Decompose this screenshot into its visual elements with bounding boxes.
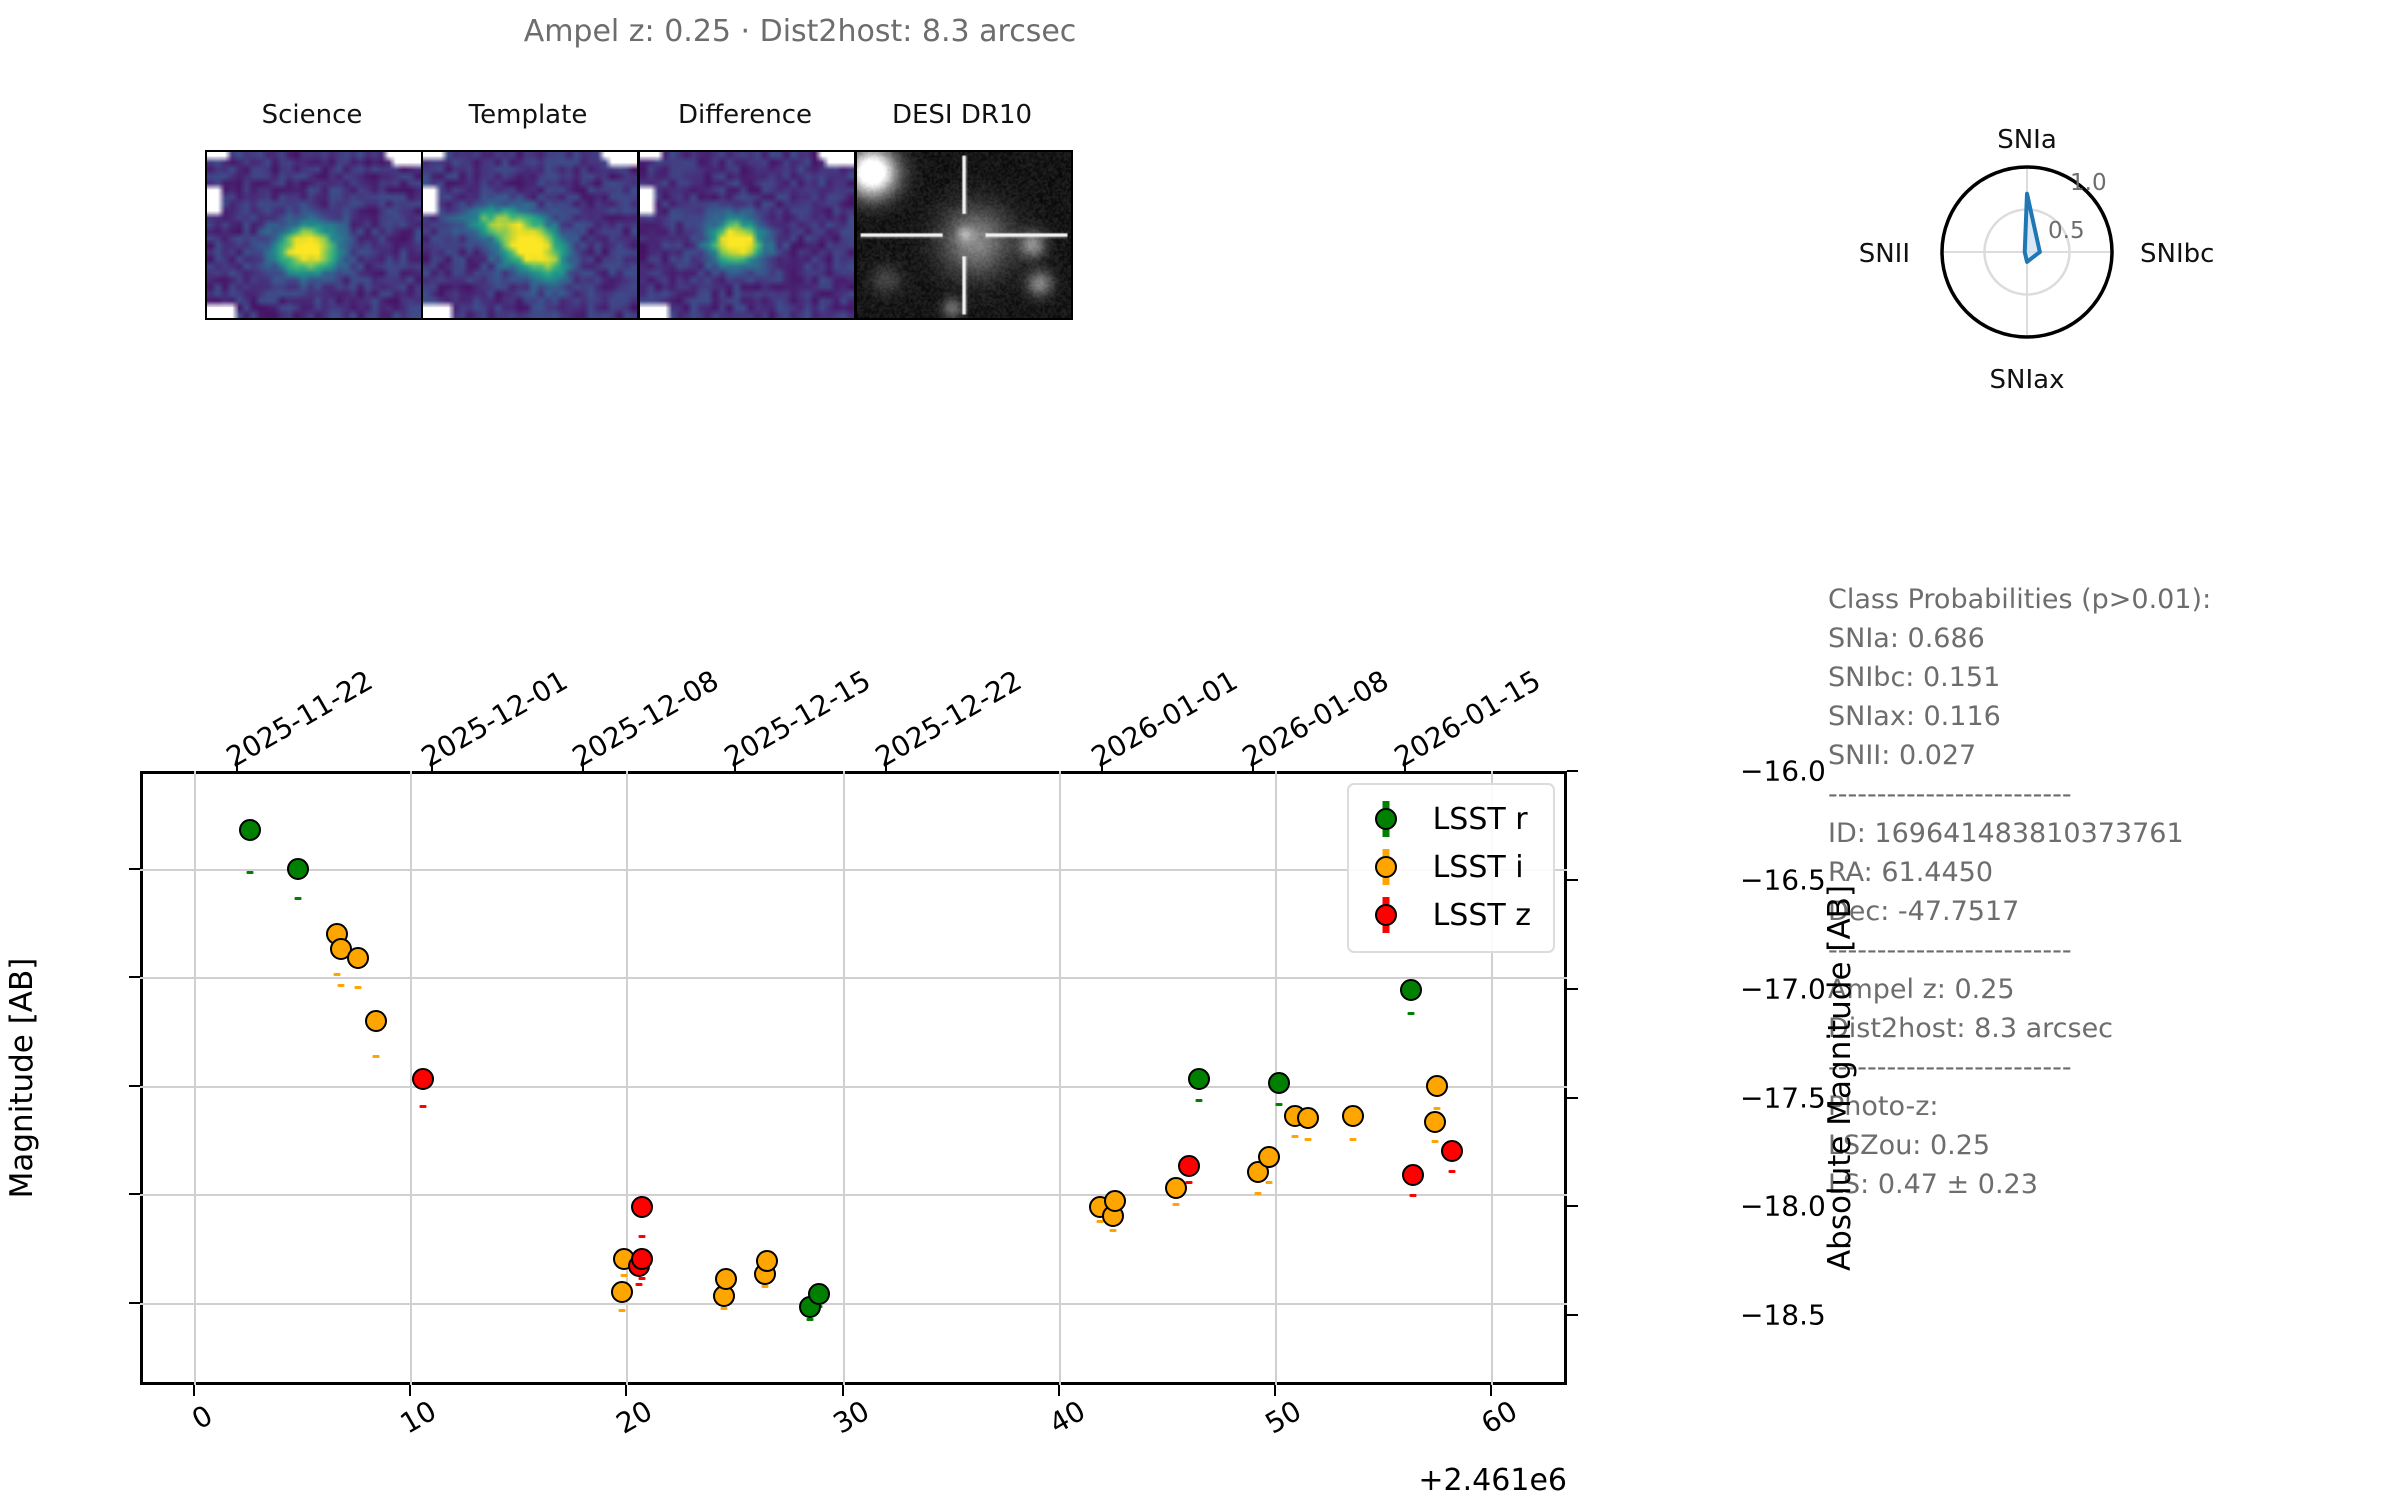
info-line-2: SNIbc: 0.151 <box>1828 658 2368 697</box>
x-tick-label-bottom-5: 50 <box>1260 1394 1307 1440</box>
y-tickmark-left <box>129 1193 140 1195</box>
date-tick-label-4: 2025-12-22 <box>870 664 1027 774</box>
info-line-0: Class Probabilities (p>0.01): <box>1828 580 2368 619</box>
y-tickmark-left <box>129 976 140 978</box>
cutout-image-desi-dr10[interactable] <box>855 150 1073 320</box>
data-point[interactable] <box>1188 1068 1210 1090</box>
info-line-11: Dist2host: 8.3 arcsec <box>1828 1009 2368 1048</box>
light-curve-plot: 22.022.523.023.524.0−18.5−18.0−17.5−17.0… <box>140 771 1567 1385</box>
data-point[interactable] <box>1424 1111 1446 1133</box>
data-point[interactable] <box>1165 1177 1187 1199</box>
legend-marker-lsst-r <box>1365 795 1411 843</box>
legend-marker-lsst-z <box>1365 891 1411 939</box>
legend-entry-lsst-i[interactable]: LSST i <box>1365 843 1531 891</box>
data-point[interactable] <box>1268 1072 1290 1094</box>
data-point[interactable] <box>1400 979 1422 1001</box>
date-tick-label-2: 2025-12-08 <box>567 664 724 774</box>
data-point[interactable] <box>412 1068 434 1090</box>
error-bar <box>720 1307 727 1310</box>
data-point[interactable] <box>808 1283 830 1305</box>
radar-axis-label-snii: SNII <box>1750 239 1910 269</box>
data-point[interactable] <box>1426 1075 1448 1097</box>
date-tick-label-5: 2026-01-01 <box>1086 664 1243 774</box>
data-point[interactable] <box>1258 1146 1280 1168</box>
data-point[interactable] <box>1178 1155 1200 1177</box>
x-tickmark-bottom <box>842 1385 844 1396</box>
error-bar <box>1449 1170 1456 1173</box>
cutout-title-science: Science <box>202 100 422 130</box>
date-tick-label-1: 2025-12-01 <box>416 664 573 774</box>
legend-label: LSST r <box>1433 802 1528 837</box>
error-bar <box>372 1055 379 1058</box>
x-axis-offset-label: +2.461e6 <box>1418 1463 1567 1498</box>
legend-marker-lsst-i <box>1365 843 1411 891</box>
error-bar <box>619 1309 626 1312</box>
radar-axis-label-snibc: SNIbc <box>2140 239 2300 269</box>
y-tickmark-left <box>129 1302 140 1304</box>
gridline-horizontal <box>140 1303 1567 1305</box>
data-point[interactable] <box>756 1250 778 1272</box>
data-point[interactable] <box>715 1268 737 1290</box>
x-tickmark-bottom <box>1274 1385 1276 1396</box>
info-line-3: SNIax: 0.116 <box>1828 697 2368 736</box>
gridline-horizontal <box>140 1086 1567 1088</box>
cutout-title-template: Template <box>418 100 638 130</box>
error-bar <box>638 1277 645 1280</box>
x-tickmark-bottom <box>1490 1385 1492 1396</box>
data-point[interactable] <box>611 1281 633 1303</box>
x-tick-label-bottom-2: 20 <box>611 1394 658 1440</box>
y-axis-label-right: Absolute Magnitude [AB] <box>1822 885 1858 1271</box>
legend-label: LSST z <box>1433 898 1531 933</box>
data-point[interactable] <box>365 1010 387 1032</box>
error-bar <box>761 1285 768 1288</box>
cutout-image-difference[interactable] <box>638 150 856 320</box>
y-tickmark-right <box>1567 879 1578 881</box>
y-tickmark-right <box>1567 1097 1578 1099</box>
figure-suptitle: Ampel z: 0.25 · Dist2host: 8.3 arcsec <box>0 14 1600 49</box>
gridline-horizontal <box>140 1194 1567 1196</box>
error-bar <box>638 1235 645 1238</box>
error-bar <box>1410 1194 1417 1197</box>
cutout-image-template[interactable] <box>421 150 639 320</box>
x-tick-label-bottom-4: 40 <box>1043 1394 1090 1440</box>
error-bar <box>1408 1012 1415 1015</box>
data-point[interactable] <box>1441 1140 1463 1162</box>
error-bar <box>1109 1229 1116 1232</box>
error-bar <box>1432 1140 1439 1143</box>
info-line-14: LSZou: 0.25 <box>1828 1126 2368 1165</box>
error-bar <box>355 986 362 989</box>
error-bar <box>294 897 301 900</box>
error-bar <box>636 1283 643 1286</box>
class-probability-radar-chart: SNIaSNIbcSNIaxSNII0.51.0 <box>1880 95 2220 360</box>
x-tick-label-bottom-3: 30 <box>827 1394 874 1440</box>
y-axis-label-left: Magnitude [AB] <box>4 958 40 1199</box>
legend-entry-lsst-z[interactable]: LSST z <box>1365 891 1531 939</box>
figure-root: Ampel z: 0.25 · Dist2host: 8.3 arcsec Sc… <box>0 0 2400 1500</box>
data-point[interactable] <box>287 858 309 880</box>
x-tickmark-bottom <box>1058 1385 1060 1396</box>
error-bar <box>1349 1138 1356 1141</box>
data-point[interactable] <box>1402 1164 1424 1186</box>
x-tick-label-bottom-6: 60 <box>1476 1394 1523 1440</box>
cutout-title-difference: Difference <box>635 100 855 130</box>
radar-axis-label-snia: SNIa <box>1927 125 2127 155</box>
y-tickmark-right <box>1567 1314 1578 1316</box>
x-tick-label-bottom-1: 10 <box>395 1394 442 1440</box>
error-bar <box>247 871 254 874</box>
error-bar <box>1172 1203 1179 1206</box>
radar-axis-label-sniax: SNIax <box>1927 365 2127 395</box>
gridline-vertical <box>843 771 845 1385</box>
info-line-6: ID: 169641483810373761 <box>1828 814 2368 853</box>
radar-r-tick-0-5: 0.5 <box>2048 218 2085 244</box>
error-bar <box>1196 1099 1203 1102</box>
data-point[interactable] <box>239 819 261 841</box>
x-tick-label-bottom-0: 0 <box>186 1399 218 1436</box>
gridline-vertical <box>1059 771 1061 1385</box>
legend-dot <box>1375 808 1397 830</box>
y-tickmark-left <box>129 1085 140 1087</box>
legend-label: LSST i <box>1433 850 1524 885</box>
gridline-horizontal <box>140 977 1567 979</box>
y-tick-label-right-0: −18.5 <box>1740 1299 1940 1332</box>
data-point[interactable] <box>631 1248 653 1270</box>
error-bar <box>1265 1181 1272 1184</box>
cutout-image-science[interactable] <box>205 150 423 320</box>
error-bar <box>338 984 345 987</box>
legend-entry-lsst-r[interactable]: LSST r <box>1365 795 1531 843</box>
info-line-1: SNIa: 0.686 <box>1828 619 2368 658</box>
error-bar <box>1276 1103 1283 1106</box>
y-tickmark-left <box>129 868 140 870</box>
x-tickmark-bottom <box>193 1385 195 1396</box>
date-tick-label-0: 2025-11-22 <box>221 664 378 774</box>
error-bar <box>420 1105 427 1108</box>
error-bar <box>1291 1135 1298 1138</box>
y-tickmark-right <box>1567 1205 1578 1207</box>
info-line-9: ------------------------- <box>1828 931 2368 970</box>
gridline-vertical <box>194 771 196 1385</box>
error-bar <box>1304 1138 1311 1141</box>
data-point[interactable] <box>631 1196 653 1218</box>
error-bar <box>807 1318 814 1321</box>
error-bar <box>1434 1107 1441 1110</box>
data-point[interactable] <box>1342 1105 1364 1127</box>
error-bar <box>621 1274 628 1277</box>
legend-dot <box>1375 856 1397 878</box>
info-line-8: Dec: -47.7517 <box>1828 892 2368 931</box>
x-tickmark-bottom <box>625 1385 627 1396</box>
plot-legend[interactable]: LSST rLSST iLSST z <box>1347 783 1555 953</box>
date-tick-label-6: 2026-01-08 <box>1237 664 1394 774</box>
y-tick-label-right-5: −16.0 <box>1740 755 1940 788</box>
radar-r-tick-1-0: 1.0 <box>2070 170 2107 196</box>
x-tickmark-bottom <box>409 1385 411 1396</box>
date-tick-label-3: 2025-12-15 <box>718 664 875 774</box>
data-point[interactable] <box>1104 1190 1126 1212</box>
error-bar <box>333 973 340 976</box>
date-tick-label-7: 2026-01-15 <box>1389 664 1546 774</box>
data-point[interactable] <box>1297 1107 1319 1129</box>
error-bar <box>1254 1192 1261 1195</box>
y-tickmark-right <box>1567 988 1578 990</box>
legend-dot <box>1375 904 1397 926</box>
data-point[interactable] <box>347 947 369 969</box>
cutout-title-desi-dr10: DESI DR10 <box>852 100 1072 130</box>
y-tickmark-right <box>1567 770 1578 772</box>
